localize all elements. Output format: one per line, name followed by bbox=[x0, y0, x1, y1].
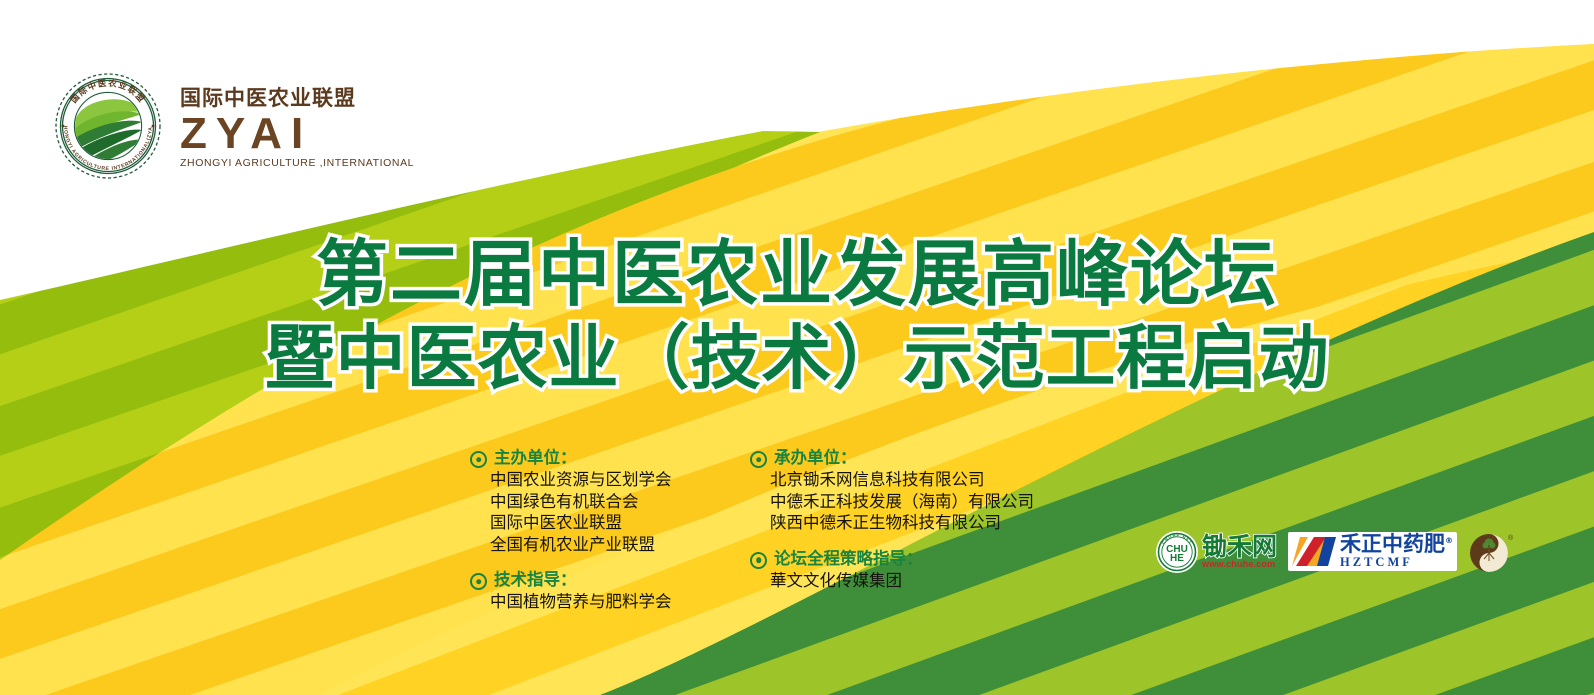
info-heading-label: 技术指导： bbox=[494, 569, 577, 590]
info-group: 主办单位： 中国农业资源与区划学会 中国绿色有机联合会 国际中医农业联盟 全国有… bbox=[470, 447, 732, 555]
info-item-list: 華文文化传媒集团 bbox=[750, 570, 1050, 592]
svg-text:HE: HE bbox=[1170, 553, 1184, 564]
info-item: 中国绿色有机联合会 bbox=[490, 491, 732, 513]
zyai-logo-block: 国际中医农业联盟 ZHONGYI AGRICULTURE INTERNATION… bbox=[50, 68, 414, 184]
info-group: 技术指导： 中国植物营养与肥料学会 bbox=[470, 569, 732, 613]
logo-name-en: ZHONGYI AGRICULTURE ,INTERNATIONAL bbox=[180, 158, 414, 169]
bullet-icon bbox=[750, 451, 767, 468]
info-heading-label: 主办单位： bbox=[494, 447, 577, 468]
info-group-heading: 技术指导： bbox=[470, 569, 732, 590]
info-item-list: 北京锄禾网信息科技有限公司 中德禾正科技发展（海南）有限公司 陕西中德禾正生物科… bbox=[750, 469, 1050, 534]
info-group-heading: 论坛全程策略指导： bbox=[750, 548, 1050, 569]
info-item: 陕西中德禾正生物科技有限公司 bbox=[770, 512, 1050, 534]
hzt-name-cn: 禾正中药肥® bbox=[1340, 534, 1453, 555]
info-group-heading: 主办单位： bbox=[470, 447, 732, 468]
logo-name-cn: 国际中医农业联盟 bbox=[180, 88, 414, 109]
organizer-info: 主办单位： 中国农业资源与区划学会 中国绿色有机联合会 国际中医农业联盟 全国有… bbox=[470, 447, 1050, 613]
zyai-circular-emblem: 国际中医农业联盟 ZHONGYI AGRICULTURE INTERNATION… bbox=[50, 68, 166, 184]
info-group: 论坛全程策略指导： 華文文化传媒集团 bbox=[750, 548, 1050, 592]
info-item: 中国植物营养与肥料学会 bbox=[490, 591, 732, 613]
info-left-column: 主办单位： 中国农业资源与区划学会 中国绿色有机联合会 国际中医农业联盟 全国有… bbox=[470, 447, 732, 613]
info-group: 承办单位： 北京锄禾网信息科技有限公司 中德禾正科技发展（海南）有限公司 陕西中… bbox=[750, 447, 1050, 534]
svg-text:®: ® bbox=[1508, 534, 1514, 542]
bullet-icon bbox=[750, 552, 767, 569]
chuhe-url: www.chuhe.com bbox=[1202, 560, 1277, 569]
zyai-logo-text: 国际中医农业联盟 ZYAI ZHONGYI AGRICULTURE ,INTER… bbox=[180, 84, 414, 169]
info-item-list: 中国植物营养与肥料学会 bbox=[470, 591, 732, 613]
conference-banner: 国际中医农业联盟 ZHONGYI AGRICULTURE INTERNATION… bbox=[0, 0, 1594, 695]
info-item: 中德禾正科技发展（海南）有限公司 bbox=[770, 491, 1050, 513]
sponsor-tree-root: ® bbox=[1468, 528, 1515, 575]
chuhe-circle-icon: CHUHE NET CHU HE bbox=[1155, 530, 1199, 574]
info-right-column: 承办单位： 北京锄禾网信息科技有限公司 中德禾正科技发展（海南）有限公司 陕西中… bbox=[750, 447, 1050, 613]
sponsor-logo-row: CHUHE NET CHU HE 锄禾网 www.chuhe.com bbox=[1155, 528, 1515, 575]
info-item: 全国有机农业产业联盟 bbox=[490, 534, 732, 556]
info-heading-label: 承办单位： bbox=[774, 447, 857, 468]
info-item: 華文文化传媒集团 bbox=[770, 570, 1050, 592]
logo-acronym: ZYAI bbox=[180, 111, 414, 157]
sponsor-chuhe: CHUHE NET CHU HE 锄禾网 www.chuhe.com bbox=[1155, 530, 1277, 574]
hzt-parallelogram-z-icon bbox=[1292, 536, 1336, 567]
bullet-icon bbox=[470, 451, 487, 468]
info-heading-label: 论坛全程策略指导： bbox=[774, 548, 923, 569]
sponsor-hzt: 禾正中药肥® HZTCMF bbox=[1288, 532, 1457, 571]
hzt-name-en: HZTCMF bbox=[1340, 556, 1453, 569]
info-item: 北京锄禾网信息科技有限公司 bbox=[770, 469, 1050, 491]
hzt-text: 禾正中药肥® HZTCMF bbox=[1340, 534, 1453, 569]
info-item: 国际中医农业联盟 bbox=[490, 512, 732, 534]
chuhe-name-cn: 锄禾网 bbox=[1202, 534, 1277, 559]
info-item: 中国农业资源与区划学会 bbox=[490, 469, 732, 491]
chuhe-text: 锄禾网 www.chuhe.com bbox=[1202, 534, 1277, 569]
bullet-icon bbox=[470, 573, 487, 590]
info-item-list: 中国农业资源与区划学会 中国绿色有机联合会 国际中医农业联盟 全国有机农业产业联… bbox=[470, 469, 732, 555]
info-group-heading: 承办单位： bbox=[750, 447, 1050, 468]
tree-root-circle-icon: ® bbox=[1468, 528, 1515, 575]
